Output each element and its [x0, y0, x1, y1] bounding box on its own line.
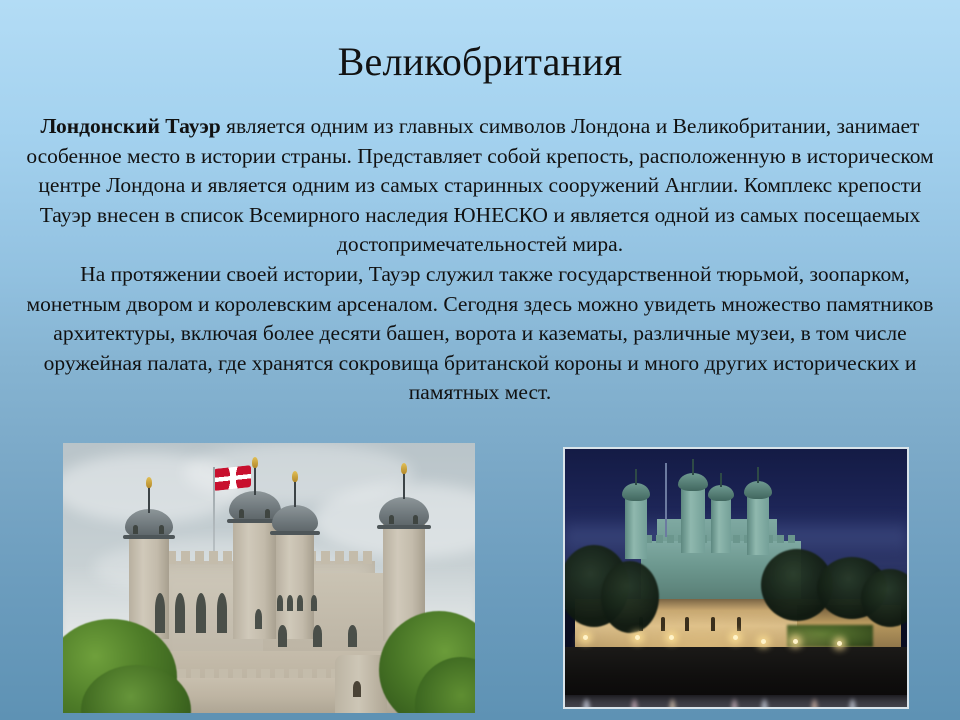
window — [277, 595, 283, 611]
river-embankment — [565, 647, 907, 697]
street-lamp — [733, 635, 738, 640]
paragraph-2: На протяжении своей истории, Тауэр служи… — [26, 260, 934, 408]
turret-window — [413, 515, 418, 524]
gold-weathervane-icon — [252, 457, 258, 468]
street-lamp — [583, 635, 588, 640]
turret-night-inner — [711, 497, 731, 553]
wall-window — [353, 681, 361, 697]
turret-inner — [276, 527, 314, 639]
street-lamp — [669, 635, 674, 640]
turret-spire — [403, 473, 405, 499]
street-lamp — [793, 639, 798, 644]
wall-window-night — [711, 617, 715, 631]
turret-window — [159, 525, 164, 534]
photo-tower-night — [563, 447, 909, 709]
window — [196, 593, 206, 633]
lead-bold-term: Лондонский Тауэр — [41, 114, 221, 138]
window — [348, 625, 357, 647]
turret-dome-night — [708, 485, 734, 501]
gold-weathervane-icon — [146, 477, 152, 488]
turret-window — [389, 515, 394, 524]
turret-brim — [123, 535, 175, 539]
turret-brim — [270, 531, 320, 535]
turret-night-left — [625, 497, 647, 559]
turret-night-right — [747, 495, 769, 555]
night-scene — [565, 449, 907, 707]
window — [297, 595, 303, 611]
turret-window — [265, 509, 270, 518]
turret-window — [133, 525, 138, 534]
turret-brim — [377, 525, 431, 529]
turret-spire-night — [720, 473, 722, 487]
page-title: Великобритания — [0, 38, 960, 86]
gold-weathervane-icon — [401, 463, 407, 474]
turret-spire-night — [635, 469, 637, 485]
tree-night-left-2 — [601, 561, 659, 633]
wall-window-night — [737, 617, 741, 631]
turret-spire — [254, 467, 256, 495]
window — [217, 593, 227, 633]
turret-window — [239, 509, 244, 518]
street-lamp — [837, 641, 842, 646]
street-lamp — [635, 635, 640, 640]
turret-spire-night — [692, 459, 694, 475]
turret-night-center — [681, 487, 705, 553]
flagpole-night — [665, 463, 667, 537]
turret-dome-night — [744, 481, 772, 499]
window — [278, 625, 287, 647]
window — [155, 593, 165, 633]
turret-dome-night — [678, 473, 708, 491]
window — [175, 593, 185, 633]
window — [255, 609, 262, 629]
union-jack-flag-icon — [215, 465, 251, 491]
turret-spire — [294, 481, 296, 507]
window — [287, 595, 293, 611]
turret-dome-night — [622, 483, 650, 501]
paragraph-1: Лондонский Тауэр является одним из главн… — [26, 112, 934, 260]
wall-window-night — [661, 617, 665, 631]
photo-tower-day — [63, 443, 475, 713]
turret-spire — [148, 487, 150, 513]
window — [313, 625, 322, 647]
turret-spire-night — [757, 467, 759, 483]
window — [311, 595, 317, 611]
street-lamp — [761, 639, 766, 644]
wall-window-night — [685, 617, 689, 631]
slide: Великобритания Лондонский Тауэр является… — [0, 0, 960, 720]
gold-weathervane-icon — [292, 471, 298, 482]
body-text: Лондонский Тауэр является одним из главн… — [26, 112, 934, 408]
